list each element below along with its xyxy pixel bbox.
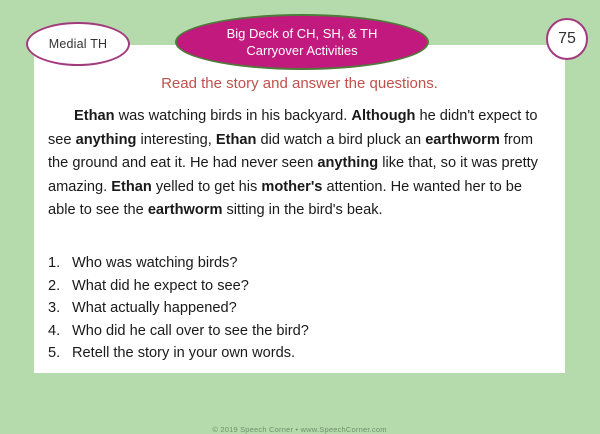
medial-th-badge: Medial TH: [26, 22, 130, 66]
question-item: 4.Who did he call over to see the bird?: [48, 320, 538, 343]
story-keyword: mother's: [261, 179, 322, 195]
question-number: 1.: [48, 252, 72, 275]
question-number: 2.: [48, 275, 72, 298]
story-keyword: Although: [351, 108, 415, 124]
instruction-text: Read the story and answer the questions.: [34, 75, 565, 92]
question-text: What actually happened?: [72, 297, 538, 320]
question-text: Who did he call over to see the bird?: [72, 320, 538, 343]
page-number-value: 75: [558, 30, 576, 48]
title-line-2: Carryover Activities: [246, 42, 357, 59]
question-item: 3.What actually happened?: [48, 297, 538, 320]
story-text: interesting,: [136, 132, 216, 148]
footer-copyright: © 2019 Speech Corner • www.SpeechCorner.…: [34, 425, 565, 434]
story-keyword: Ethan: [111, 179, 152, 195]
question-number: 3.: [48, 297, 72, 320]
medial-th-badge-label: Medial TH: [49, 37, 108, 51]
questions-list: 1.Who was watching birds?2.What did he e…: [48, 252, 538, 365]
story-text: sitting in the bird's beak.: [222, 202, 382, 218]
question-item: 1.Who was watching birds?: [48, 252, 538, 275]
story-text: did watch a bird pluck an: [256, 132, 425, 148]
question-text: Retell the story in your own words.: [72, 342, 538, 365]
question-number: 4.: [48, 320, 72, 343]
page-number-badge: 75: [546, 18, 588, 60]
question-item: 2.What did he expect to see?: [48, 275, 538, 298]
title-line-1: Big Deck of CH, SH, & TH: [227, 25, 378, 42]
question-text: What did he expect to see?: [72, 275, 538, 298]
worksheet-card: Read the story and answer the questions.…: [34, 45, 565, 373]
story-paragraph: Ethan was watching birds in his backyard…: [48, 105, 551, 223]
question-item: 5.Retell the story in your own words.: [48, 342, 538, 365]
question-number: 5.: [48, 342, 72, 365]
story-text: yelled to get his: [152, 179, 262, 195]
story-keyword: earthworm: [148, 202, 223, 218]
story-keyword: Ethan: [216, 132, 257, 148]
story-keyword: earthworm: [425, 132, 500, 148]
story-keyword: anything: [76, 132, 137, 148]
title-banner: Big Deck of CH, SH, & TH Carryover Activ…: [175, 14, 429, 70]
question-text: Who was watching birds?: [72, 252, 538, 275]
story-keyword: Ethan: [74, 108, 115, 124]
story-text: was watching birds in his backyard.: [115, 108, 352, 124]
story-keyword: anything: [317, 155, 378, 171]
